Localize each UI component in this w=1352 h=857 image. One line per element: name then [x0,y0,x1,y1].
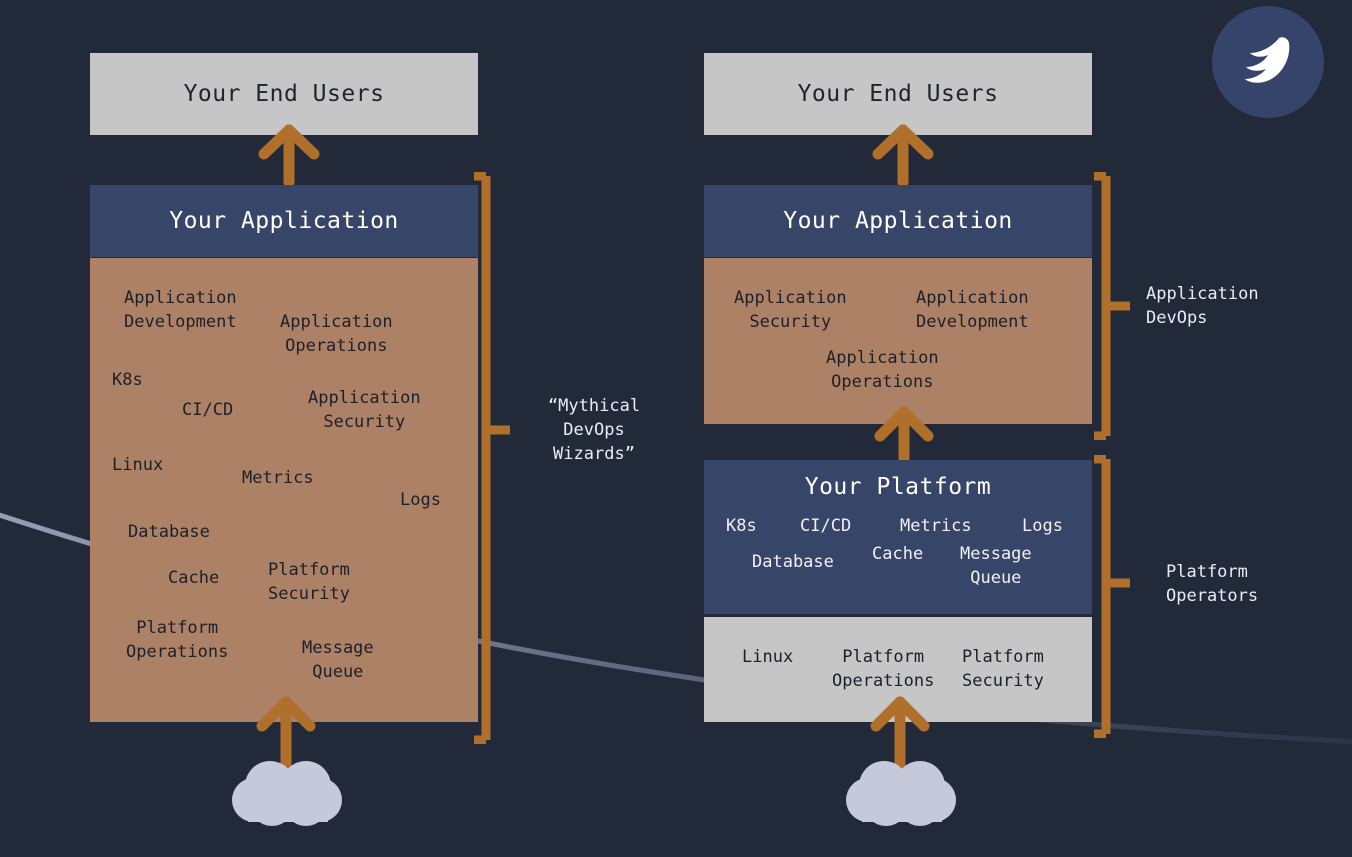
application-devops-bracket [1094,172,1134,440]
left-your-application-box: Your Application [90,185,478,257]
left-skill-application-operations: Application Operations [280,310,393,358]
left-skill-message-queue: Message Queue [302,636,374,684]
right-skill-application-security: Application Security [734,286,847,334]
left-skill-linux: Linux [112,453,163,477]
right-infrastructure-box: Linux Platform Operations Platform Secur… [704,617,1092,722]
right-skill-application-development: Application Development [916,286,1029,334]
right-cloud-icon [828,760,974,830]
right-application-skills-box: Application Security Application Develop… [704,258,1092,424]
wave-shell-icon [1233,27,1303,97]
left-skill-logs: Logs [400,488,441,512]
right-end-users-label: Your End Users [798,81,999,107]
left-end-users-label: Your End Users [184,81,385,107]
left-skill-platform-security: Platform Security [268,558,350,606]
left-skill-cache: Cache [168,566,219,590]
mythical-devops-bracket [474,172,514,744]
right-your-application-box: Your Application [704,185,1092,257]
left-skill-metrics: Metrics [242,466,314,490]
right-infra-skill-platform-security: Platform Security [962,645,1044,693]
mythical-devops-label: “Mythical DevOps Wizards” [524,394,664,466]
right-platform-skill-k8s: K8s [726,514,757,538]
right-infra-skill-linux: Linux [742,645,793,669]
left-skill-ci-cd: CI/CD [182,398,233,422]
right-platform-skill-ci-cd: CI/CD [800,514,851,538]
right-platform-skill-database: Database [752,550,834,574]
left-everything-box: Application Development Application Oper… [90,258,478,722]
left-cloud-icon [214,760,360,830]
right-platform-skill-cache: Cache [872,542,923,566]
left-your-application-label: Your Application [169,208,399,234]
platform-operators-label: Platform Operators [1166,560,1352,608]
right-platform-skill-message-queue: Message Queue [960,542,1032,590]
right-infra-skill-platform-operations: Platform Operations [832,645,934,693]
application-devops-label: Application DevOps [1146,282,1336,330]
right-end-users-box: Your End Users [704,53,1092,135]
platform-operators-bracket [1094,455,1134,738]
right-skill-application-operations: Application Operations [826,346,939,394]
right-your-application-label: Your Application [783,208,1013,234]
left-skill-platform-operations: Platform Operations [126,616,228,664]
right-your-platform-box: Your Platform K8s CI/CD Metrics Logs Dat… [704,460,1092,614]
left-skill-database: Database [128,520,210,544]
right-platform-skill-metrics: Metrics [900,514,972,538]
brand-logo [1212,6,1324,118]
left-end-users-box: Your End Users [90,53,478,135]
left-skill-application-development: Application Development [124,286,237,334]
left-skill-k8s: K8s [112,368,143,392]
left-skill-application-security: Application Security [308,386,421,434]
right-platform-skill-logs: Logs [1022,514,1063,538]
right-your-platform-label: Your Platform [805,474,992,500]
diagram-canvas: Your End Users Your Application Applicat… [0,0,1352,857]
